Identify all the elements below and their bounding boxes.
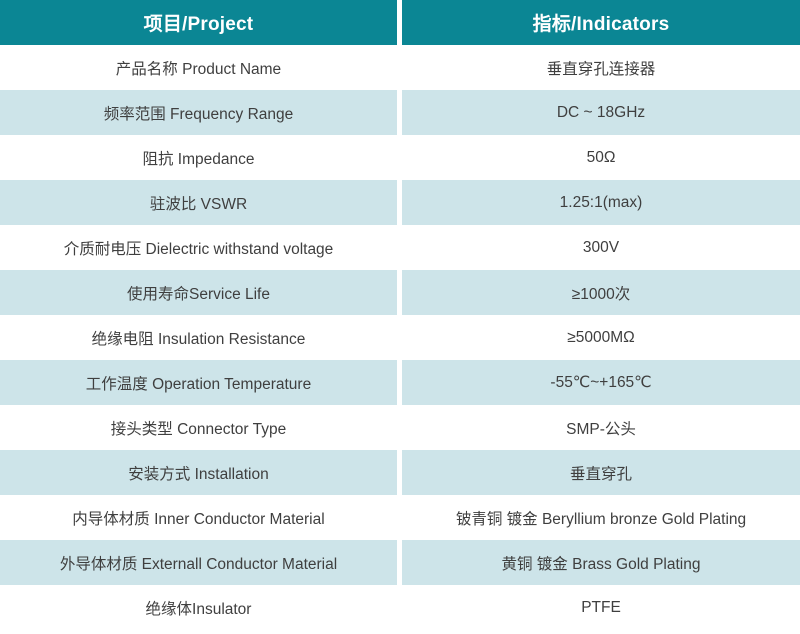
cell-project: 工作温度 Operation Temperature (0, 360, 397, 405)
table-row: 频率范围 Frequency RangeDC ~ 18GHz (0, 90, 800, 135)
table-row: 工作温度 Operation Temperature-55℃~+165℃ (0, 360, 800, 405)
cell-indicator: 铍青铜 镀金 Beryllium bronze Gold Plating (402, 495, 800, 540)
table-row: 安装方式 Installation垂直穿孔 (0, 450, 800, 495)
table-row: 介质耐电压 Dielectric withstand voltage300V (0, 225, 800, 270)
cell-indicator: ≥1000次 (402, 270, 800, 315)
table-row: 接头类型 Connector TypeSMP-公头 (0, 405, 800, 450)
cell-project: 频率范围 Frequency Range (0, 90, 397, 135)
table-row: 阻抗 Impedance50Ω (0, 135, 800, 180)
table-row: 内导体材质 Inner Conductor Material铍青铜 镀金 Ber… (0, 495, 800, 540)
cell-indicator: -55℃~+165℃ (402, 360, 800, 405)
table-row: 产品名称 Product Name垂直穿孔连接器 (0, 45, 800, 90)
cell-indicator: DC ~ 18GHz (402, 90, 800, 135)
cell-project: 外导体材质 Externall Conductor Material (0, 540, 397, 585)
table-row: 外导体材质 Externall Conductor Material黄铜 镀金 … (0, 540, 800, 585)
cell-project: 驻波比 VSWR (0, 180, 397, 225)
table-row: 驻波比 VSWR1.25:1(max) (0, 180, 800, 225)
column-header-indicators: 指标/Indicators (402, 0, 800, 45)
cell-indicator: 垂直穿孔 (402, 450, 800, 495)
cell-indicator: 50Ω (402, 135, 800, 180)
table-row: 绝缘体InsulatorPTFE (0, 585, 800, 630)
cell-indicator: 1.25:1(max) (402, 180, 800, 225)
cell-indicator: PTFE (402, 585, 800, 630)
column-header-project: 项目/Project (0, 0, 397, 45)
cell-project: 内导体材质 Inner Conductor Material (0, 495, 397, 540)
table-row: 使用寿命Service Life≥1000次 (0, 270, 800, 315)
cell-project: 使用寿命Service Life (0, 270, 397, 315)
cell-project: 介质耐电压 Dielectric withstand voltage (0, 225, 397, 270)
cell-indicator: 黄铜 镀金 Brass Gold Plating (402, 540, 800, 585)
table-body: 产品名称 Product Name垂直穿孔连接器频率范围 Frequency R… (0, 45, 800, 630)
cell-indicator: 垂直穿孔连接器 (402, 45, 800, 90)
cell-indicator: SMP-公头 (402, 405, 800, 450)
specification-table: 项目/Project 指标/Indicators 产品名称 Product Na… (0, 0, 800, 630)
cell-project: 绝缘电阻 Insulation Resistance (0, 315, 397, 360)
table-header-row: 项目/Project 指标/Indicators (0, 0, 800, 45)
cell-project: 产品名称 Product Name (0, 45, 397, 90)
table-header: 项目/Project 指标/Indicators (0, 0, 800, 45)
cell-project: 绝缘体Insulator (0, 585, 397, 630)
table-row: 绝缘电阻 Insulation Resistance≥5000MΩ (0, 315, 800, 360)
cell-project: 安装方式 Installation (0, 450, 397, 495)
cell-indicator: ≥5000MΩ (402, 315, 800, 360)
cell-project: 接头类型 Connector Type (0, 405, 397, 450)
cell-project: 阻抗 Impedance (0, 135, 397, 180)
cell-indicator: 300V (402, 225, 800, 270)
